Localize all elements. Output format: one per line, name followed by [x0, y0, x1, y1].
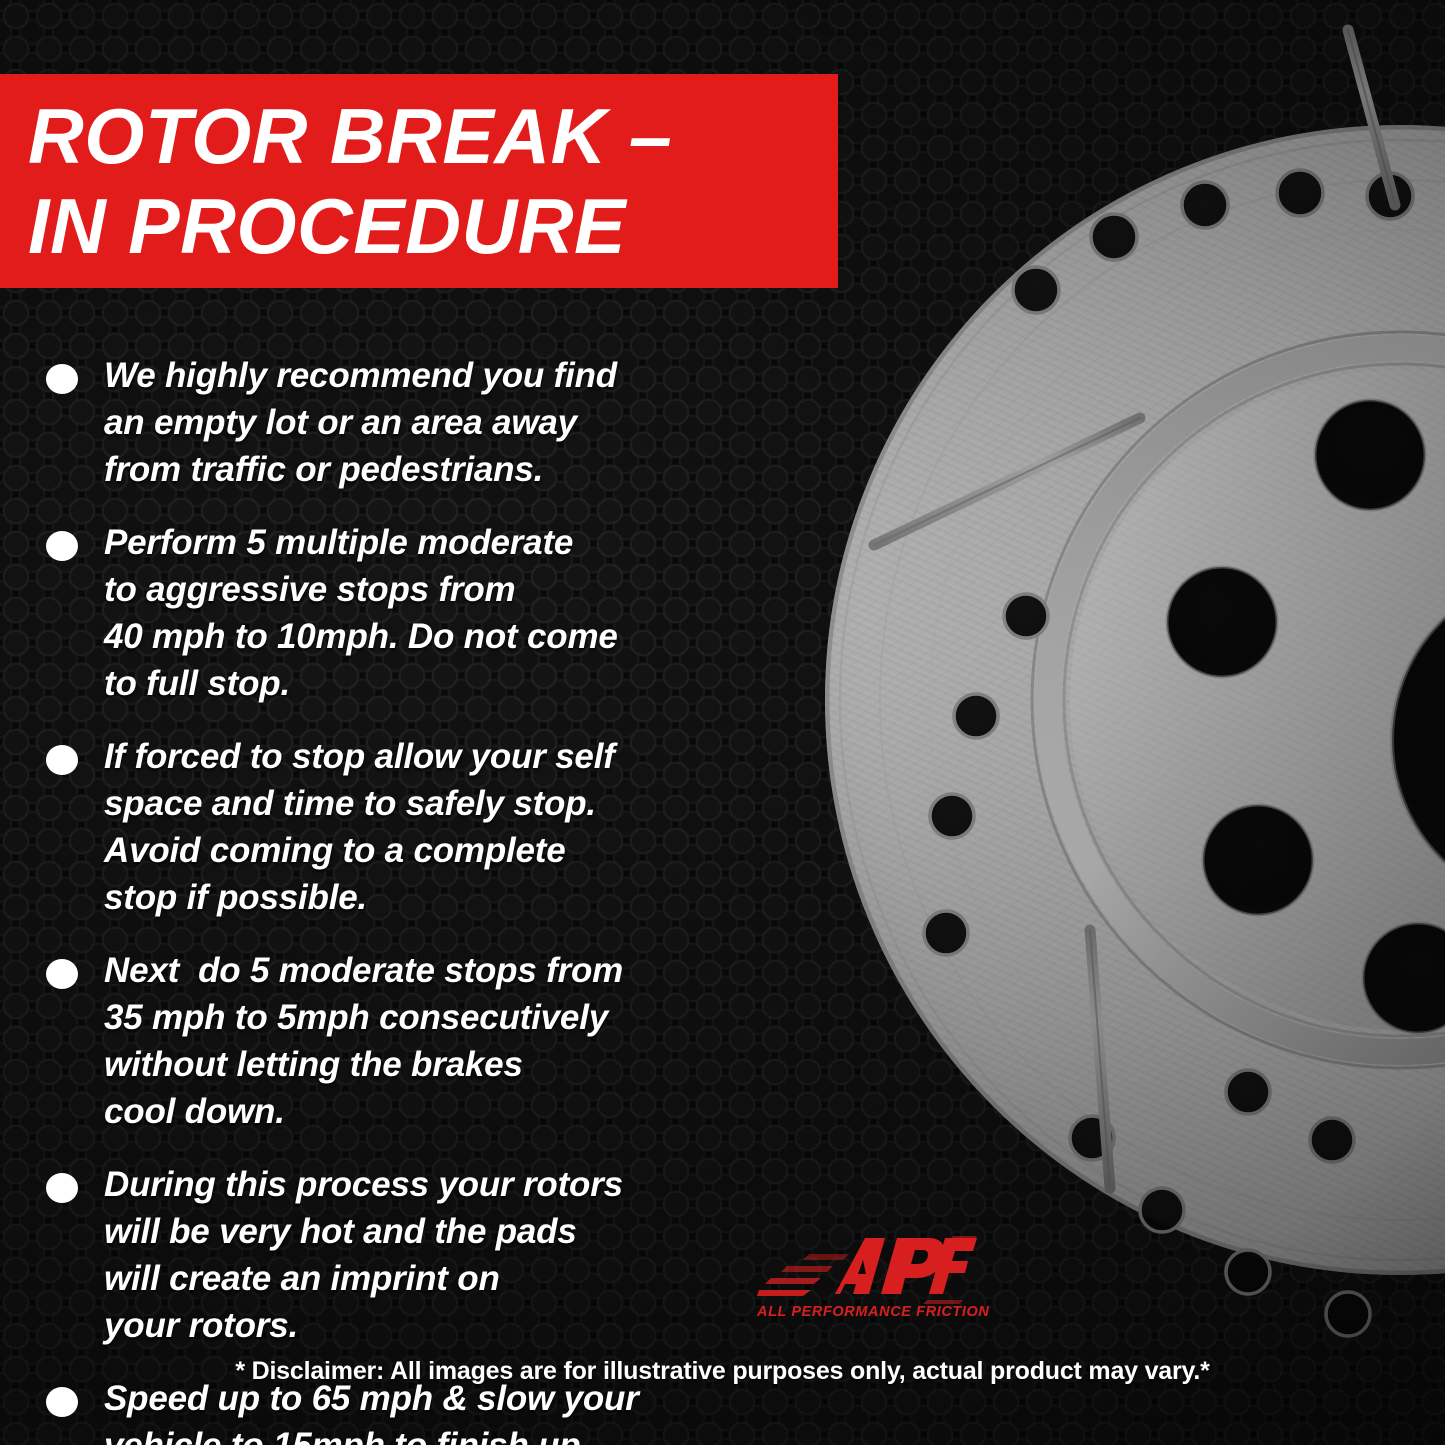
list-item: If forced to stop allow your self space …: [46, 733, 766, 921]
apf-logo-icon: [757, 1232, 977, 1304]
title-banner: ROTOR BREAK – IN PROCEDURE: [0, 74, 838, 288]
instruction-text: If forced to stop allow your self space …: [104, 733, 615, 921]
bullet-dot-icon: [46, 959, 78, 989]
page-title-line-1: ROTOR BREAK –: [28, 91, 830, 181]
bullet-dot-icon: [46, 1173, 78, 1203]
instruction-text: We highly recommend you find an empty lo…: [104, 352, 617, 493]
instruction-list: We highly recommend you find an empty lo…: [46, 352, 766, 1445]
infographic-canvas: ROTOR BREAK – IN PROCEDURE We highly rec…: [0, 0, 1445, 1445]
bullet-dot-icon: [46, 745, 78, 775]
bullet-dot-icon: [46, 531, 78, 561]
list-item: Next do 5 moderate stops from 35 mph to …: [46, 947, 766, 1135]
instruction-text: During this process your rotors will be …: [104, 1161, 623, 1349]
page-title-line-2: IN PROCEDURE: [28, 181, 830, 271]
list-item: We highly recommend you find an empty lo…: [46, 352, 766, 493]
list-item: During this process your rotors will be …: [46, 1161, 766, 1349]
apf-logo: ALL PERFORMANCE FRICTION: [757, 1232, 977, 1332]
bullet-dot-icon: [46, 1387, 78, 1417]
instruction-text: Next do 5 moderate stops from 35 mph to …: [104, 947, 623, 1135]
disclaimer-text: * Disclaimer: All images are for illustr…: [0, 1357, 1445, 1386]
bullet-dot-icon: [46, 364, 78, 394]
instruction-text: Perform 5 multiple moderate to aggressiv…: [104, 519, 618, 707]
list-item: Perform 5 multiple moderate to aggressiv…: [46, 519, 766, 707]
apf-tagline: ALL PERFORMANCE FRICTION: [757, 1304, 977, 1320]
